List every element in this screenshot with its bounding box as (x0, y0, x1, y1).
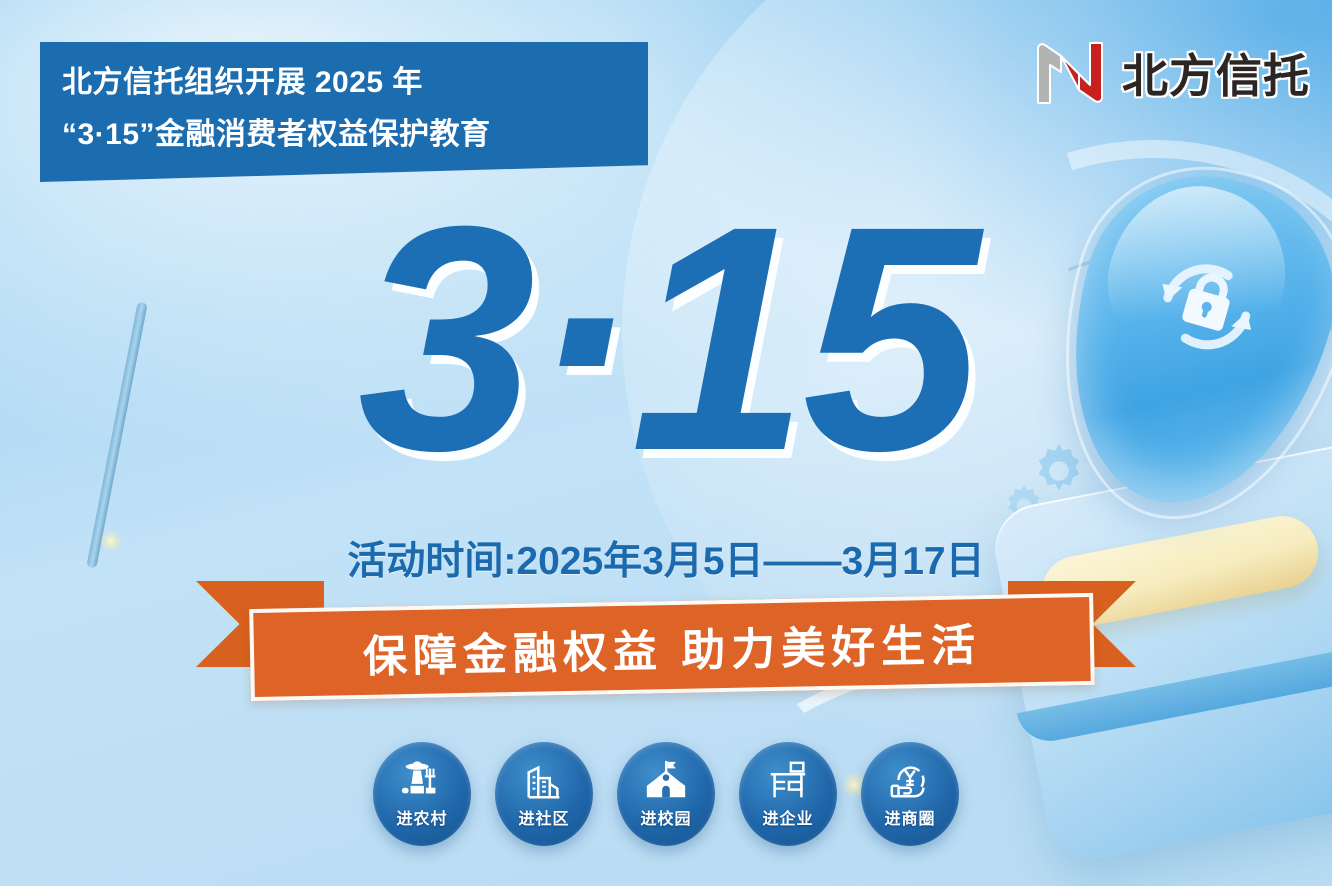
badge-jin-qi-ye[interactable]: 进企业 (739, 742, 837, 846)
badge-label: 进社区 (518, 805, 569, 829)
hand-yen-coin-icon (887, 759, 933, 803)
brand-logo: 北方信托 (1032, 40, 1310, 106)
slogan-ribbon: 保障金融权益 助力美好生活 (196, 575, 1136, 695)
ribbon-band: 保障金融权益 助力美好生活 (249, 593, 1095, 701)
page-title-line-2: “3·15”金融消费者权益保护教育 (62, 120, 491, 150)
slogan-text: 保障金融权益 助力美好生活 (253, 607, 1090, 687)
school-icon (643, 759, 689, 803)
badge-jin-nong-cun[interactable]: 进农村 (373, 742, 471, 846)
hero-number: 3·15 (0, 178, 1332, 498)
badge-label: 进农村 (396, 805, 447, 829)
buildings-icon (521, 759, 567, 803)
office-desk-icon (765, 759, 811, 803)
badge-label: 进校园 (640, 805, 691, 829)
poster-canvas: 北方信托组织开展 2025 年 “3·15”金融消费者权益保护教育 北方信托 3… (0, 0, 1332, 886)
page-title-line-1: 北方信托组织开展 2025 年 (62, 68, 423, 98)
outreach-badge-row: 进农村 进社区 进校园 (0, 742, 1332, 846)
badge-jin-shang-quan[interactable]: 进商圈 (861, 742, 959, 846)
badge-jin-xiao-yuan[interactable]: 进校园 (617, 742, 715, 846)
badge-jin-she-qu[interactable]: 进社区 (495, 742, 593, 846)
badge-label: 进企业 (762, 805, 813, 829)
farmer-icon (399, 759, 445, 803)
brand-name: 北方信托 (1122, 40, 1310, 106)
northern-trust-n-mark-icon (1032, 41, 1108, 105)
badge-label: 进商圈 (884, 805, 935, 829)
